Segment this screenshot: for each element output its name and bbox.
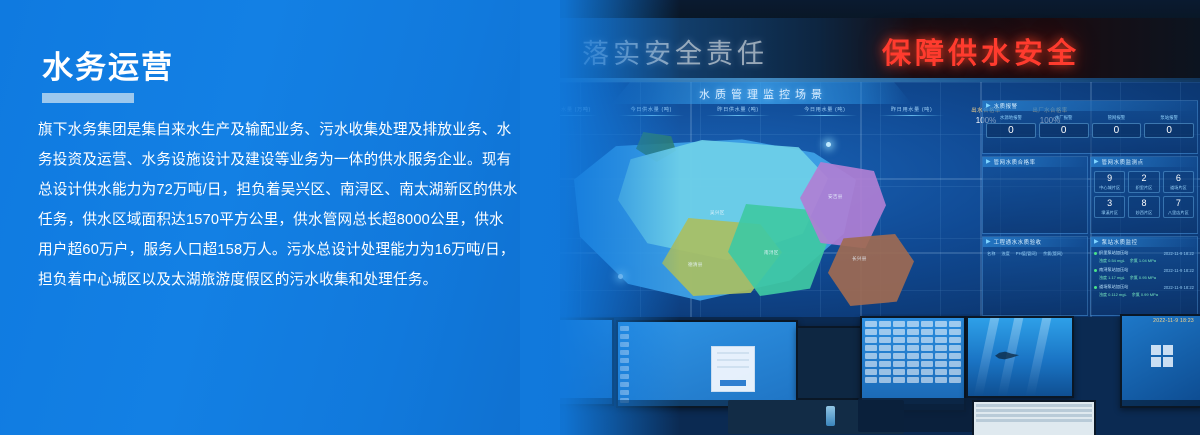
panel-title: 泵站水质监控	[1102, 238, 1138, 246]
desktop-icon	[949, 361, 961, 367]
pumpstation-list: 织里泵站加压站 2022-11-9 18:22 浊度 0.54 mgL 余氯 1…	[1091, 247, 1197, 304]
description-line: 任务，供水区域面积达1570平方公里，供水管网总长超8000公里，供水	[38, 205, 553, 235]
taskbar[interactable]	[1122, 400, 1200, 406]
desktop-icon	[921, 361, 933, 367]
desktop-icon	[935, 345, 947, 351]
description-line: 用户超60万户，服务人口超158万人。污水总设计处理能力为16万吨/日，	[38, 235, 553, 265]
desktop-icon	[865, 329, 877, 335]
column-header: 浊度	[1001, 251, 1009, 257]
status-dot-icon	[1094, 286, 1097, 289]
chevron-right-icon: ▶	[986, 159, 991, 165]
monitor-point-count: 2	[1129, 174, 1158, 183]
desktop-icon-grid	[865, 321, 961, 383]
pumpstation-name: 南浔泵站加压站	[1099, 267, 1128, 273]
desktop-icon	[879, 321, 891, 327]
monitor-point-count: 6	[1164, 174, 1193, 183]
panel-title: 工程通水水质验收	[994, 238, 1042, 246]
desktop-icon	[879, 361, 891, 367]
panel-header: ▶ 管网水质监测点	[1091, 157, 1197, 167]
panel-header: ▶ 泵站水质监控	[1091, 237, 1197, 247]
dialog-window[interactable]	[711, 346, 755, 392]
map-label-anji: 安吉县	[828, 194, 843, 200]
sheet-row	[976, 409, 1092, 412]
panel-title: 管网水质合格率	[994, 158, 1036, 166]
desktop-icon	[907, 321, 919, 327]
desktop-icon	[893, 337, 905, 343]
monitor-point-label: 中心城片区	[1095, 185, 1124, 191]
monitor-point-count: 9	[1095, 174, 1124, 183]
kpi-label: 昨日供水量 (吨)	[702, 106, 775, 113]
pumpstation-row: 织里泵站加压站 2022-11-9 18:22	[1094, 250, 1194, 256]
desktop-icon	[921, 369, 933, 375]
alarm-label: 水源地报警	[986, 115, 1036, 121]
monitor-point-cell: 3 埭溪片区	[1094, 196, 1125, 218]
pumpstation-name: 织里泵站加压站	[1099, 250, 1128, 256]
desktop-icon	[949, 337, 961, 343]
dialog-ok-button[interactable]	[720, 380, 746, 386]
title-accent-bar	[42, 93, 134, 103]
map-region-changxing	[828, 234, 914, 306]
desktop-icon	[935, 369, 947, 375]
pumpstation-name: 道场泵站加压站	[1099, 284, 1128, 290]
monitor-point-label: 八里店片区	[1164, 210, 1193, 216]
light-ray	[974, 318, 1000, 396]
monitor-point-label: 埭溪片区	[1095, 210, 1124, 216]
wall-clock-timestamp: 2022-11-9 18:23	[1153, 318, 1194, 324]
desktop-icon	[935, 377, 947, 383]
metric-chlorine: 余氯 0.95 MPa	[1130, 275, 1156, 281]
monitor-windows10[interactable]	[1120, 314, 1200, 408]
dialog-line	[717, 359, 749, 361]
hero-banner: 落实安全责任 保障供水安全 水质管理监控场景 年累计供水量 (万吨) 今日	[0, 0, 1200, 435]
monitor-point-count: 8	[1129, 199, 1158, 208]
desktop-icon	[907, 329, 919, 335]
metric-turbidity: 浊度 0.54 mgL	[1099, 258, 1125, 264]
pumpstation-row: 道场泵站加压站 2022-11-9 18:22	[1094, 284, 1194, 290]
desktop-icon	[893, 321, 905, 327]
pumpstation-time: 2022-11-9 18:22	[1164, 268, 1194, 273]
desktop-icon	[935, 361, 947, 367]
desktop-icon	[949, 329, 961, 335]
desktop-icon	[949, 353, 961, 359]
monitor-point-cell: 7 八里店片区	[1163, 196, 1194, 218]
monitor-point-cell: 8 妙西片区	[1128, 196, 1159, 218]
alarm-label: 管网报警	[1092, 115, 1142, 121]
desktop-icon	[865, 321, 877, 327]
panel-pipe-quality-rate[interactable]: ▶ 管网水质合格率	[982, 156, 1088, 234]
monitor-point-cell: 9 中心城片区	[1094, 171, 1125, 193]
panel-title: 管网水质监测点	[1102, 158, 1144, 166]
desktop-icon	[907, 377, 919, 383]
alarm-cell: 泵站报警 0	[1144, 115, 1194, 138]
desktop-icon	[893, 369, 905, 375]
pumpstation-time: 2022-11-9 18:22	[1164, 251, 1194, 256]
monitor-underwater-scene[interactable]	[966, 316, 1074, 398]
pumpstation-metrics: 浊度 0.112 mgL 余氯 0.99 MPa	[1094, 292, 1194, 298]
monitor-point-grid: 9 中心城片区 2 织里片区 6 道场片区 3	[1091, 167, 1197, 222]
windows-logo-icon	[1151, 345, 1173, 367]
desktop-icon	[935, 321, 947, 327]
desktop-icon	[921, 321, 933, 327]
monitor-point-cell: 6 道场片区	[1163, 171, 1194, 193]
desktop-icon	[921, 345, 933, 351]
desktop-icon	[907, 337, 919, 343]
chevron-right-icon: ▶	[986, 239, 991, 245]
desktop-icon	[893, 361, 905, 367]
desktop-icon	[893, 353, 905, 359]
desktop-icon	[879, 329, 891, 335]
desktop-icon	[907, 353, 919, 359]
desktop-icon	[949, 377, 961, 383]
sheet-row	[976, 414, 1092, 417]
monitor-point-label: 织里片区	[1129, 185, 1158, 191]
panel-project-acceptance[interactable]: ▶ 工程通水水质验收 名称 浊度 PH值(管网) 余氯(管网)	[982, 236, 1088, 316]
monitor-point-label: 道场片区	[1164, 185, 1193, 191]
desktop-icon	[865, 353, 877, 359]
panel-pumpstation-quality[interactable]: ▶ 泵站水质监控 织里泵站加压站 2022-11-9 18:22 浊度 0.54…	[1090, 236, 1198, 316]
page-title: 水务运营	[42, 52, 174, 83]
kpi-label: 今日用水量 (吨)	[788, 106, 861, 113]
pumpstation-metrics: 浊度 1.17 mgL 余氯 0.95 MPa	[1094, 275, 1194, 281]
desktop-icon	[907, 345, 919, 351]
alarm-cell: 管网报警 0	[1092, 115, 1142, 138]
sheet-row	[976, 404, 1092, 407]
chevron-right-icon: ▶	[986, 103, 991, 109]
desktop-icon	[921, 377, 933, 383]
monitor-black[interactable]	[796, 326, 862, 400]
panel-pipe-monitor-points[interactable]: ▶ 管网水质监测点 9 中心城片区 2 织里片区 6	[1090, 156, 1198, 234]
alarm-value: 0	[1039, 123, 1089, 138]
desktop-icon	[921, 337, 933, 343]
dashboard-panel-stack: ▶ 水质报警 水源地报警 0 水厂报警 0 管网报警	[982, 100, 1196, 314]
monitor-point-count: 3	[1095, 199, 1124, 208]
led-banner-right-text: 保障供水安全	[882, 30, 1080, 72]
desktop-icon	[935, 353, 947, 359]
desktop-icon	[907, 369, 919, 375]
alarm-cell: 水源地报警 0	[986, 115, 1036, 138]
metric-turbidity: 浊度 0.112 mgL	[1099, 292, 1127, 298]
description-line: 务投资及运营、水务设施设计及建设等业务为一体的供水服务企业。现有	[38, 145, 553, 175]
desktop-icon	[921, 353, 933, 359]
desktop-icon	[921, 329, 933, 335]
alarm-cell-row: 水源地报警 0 水厂报警 0 管网报警 0 泵站报警	[983, 111, 1197, 142]
desktop-icon	[879, 337, 891, 343]
acceptance-table-header: 名称 浊度 PH值(管网) 余氯(管网)	[983, 247, 1087, 257]
metric-turbidity: 浊度 1.17 mgL	[1099, 275, 1125, 281]
desktop-icon	[949, 345, 961, 351]
panel-header: ▶ 水质报警	[983, 101, 1197, 111]
alarm-value: 0	[986, 123, 1036, 138]
desktop-icon	[935, 337, 947, 343]
kpi-item: 今日用水量 (吨)	[788, 106, 861, 116]
panel-header: ▶ 管网水质合格率	[983, 157, 1087, 167]
desktop-icon	[865, 361, 877, 367]
panel-title: 水质报警	[994, 102, 1018, 110]
sheet-row	[976, 419, 1092, 422]
desktop-icon	[879, 377, 891, 383]
map-label-deqing: 德清县	[688, 262, 703, 268]
desktop-icon	[865, 377, 877, 383]
pumpstation-metrics: 浊度 0.54 mgL 余氯 1.04 MPa	[1094, 258, 1194, 264]
desktop-icon	[949, 369, 961, 375]
kpi-underline	[792, 115, 857, 116]
monitor-point-cell: 2 织里片区	[1128, 171, 1159, 193]
description-text: 旗下水务集团是集自来水生产及输配业务、污水收集处理及排放业务、水 务投资及运营、…	[38, 115, 553, 295]
kpi-underline	[706, 115, 771, 116]
monitor-spreadsheet[interactable]	[972, 400, 1096, 435]
light-ray	[1026, 318, 1052, 396]
kpi-item: 昨日供水量 (吨)	[702, 106, 775, 116]
chevron-right-icon: ▶	[1094, 159, 1099, 165]
alarm-cell: 水厂报警 0	[1039, 115, 1089, 138]
pumpstation-time: 2022-11-9 18:22	[1164, 285, 1194, 290]
dialog-line	[717, 352, 749, 354]
desktop-icon	[907, 361, 919, 367]
desktop-icon	[949, 321, 961, 327]
water-bottle	[826, 406, 835, 426]
column-header: 名称	[987, 251, 995, 257]
desktop-icon	[879, 369, 891, 375]
column-header: 余氯(管网)	[1043, 251, 1063, 257]
description-line: 旗下水务集团是集自来水生产及输配业务、污水收集处理及排放业务、水	[38, 115, 553, 145]
description-line: 担负着中心城区以及太湖旅游度假区的污水收集和处理任务。	[38, 265, 553, 295]
kpi-label: 昨日用水量 (吨)	[875, 106, 948, 113]
map-label-nanxun: 南浔区	[764, 250, 779, 256]
alarm-label: 水厂报警	[1039, 115, 1089, 121]
description-line: 总设计供水能力为72万吨/日，担负着吴兴区、南浔区、南太湖新区的供水	[38, 175, 553, 205]
alarm-label: 泵站报警	[1144, 115, 1194, 121]
status-dot-icon	[1094, 252, 1097, 255]
metric-chlorine: 余氯 0.99 MPa	[1132, 292, 1158, 298]
kpi-underline	[879, 115, 944, 116]
panel-water-quality-alarm[interactable]: ▶ 水质报警 水源地报警 0 水厂报警 0 管网报警	[982, 100, 1198, 154]
monitor-point-count: 7	[1164, 199, 1193, 208]
column-header: PH值(管网)	[1016, 251, 1037, 257]
desktop-icon	[865, 369, 877, 375]
desktop-icon	[893, 377, 905, 383]
map-label-wuxing: 吴兴区	[710, 210, 725, 216]
panel-header: ▶ 工程通水水质验收	[983, 237, 1087, 247]
desktop-icon	[879, 345, 891, 351]
dialog-line	[717, 366, 749, 368]
desktop-icon	[935, 329, 947, 335]
map-marker	[826, 142, 831, 147]
desktop-icon	[865, 337, 877, 343]
desktop-icon	[893, 329, 905, 335]
status-dot-icon	[1094, 269, 1097, 272]
kpi-item: 昨日用水量 (吨)	[875, 106, 948, 116]
pumpstation-row: 南浔泵站加压站 2022-11-9 18:22	[1094, 267, 1194, 273]
chevron-right-icon: ▶	[1094, 239, 1099, 245]
desktop-icon	[893, 345, 905, 351]
monitor-point-label: 妙西片区	[1129, 210, 1158, 216]
alarm-value: 0	[1092, 123, 1142, 138]
desktop-icon	[865, 345, 877, 351]
alarm-value: 0	[1144, 123, 1194, 138]
metric-chlorine: 余氯 1.04 MPa	[1130, 258, 1156, 264]
desk-surface	[858, 398, 978, 432]
desktop-icon	[879, 353, 891, 359]
map-label-changxing: 长兴县	[852, 256, 867, 262]
